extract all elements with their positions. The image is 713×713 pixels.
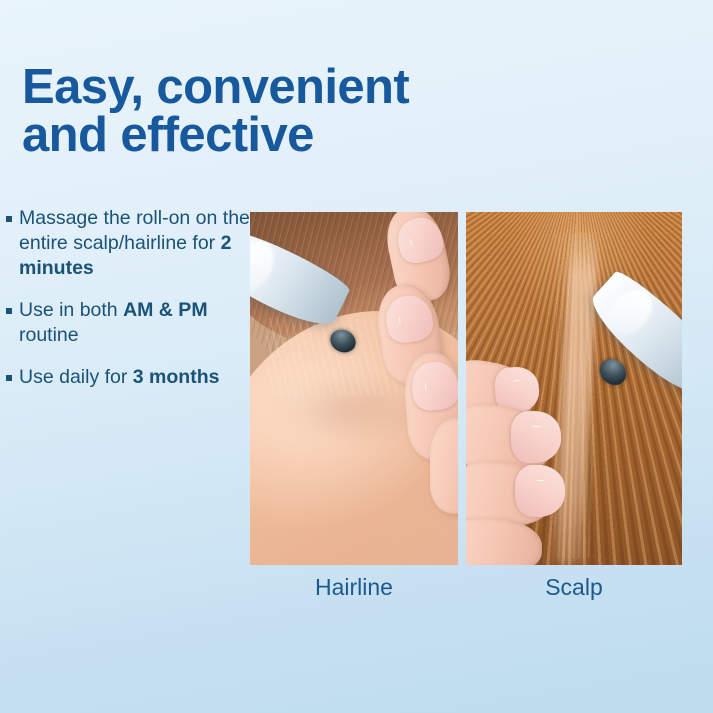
list-item-text: Use in both AM & PM routine (19, 298, 250, 348)
list-item-text: Massage the roll-on on the entire scalp/… (19, 206, 250, 281)
bullet-square-icon (6, 216, 12, 222)
bullet-square-icon (6, 375, 12, 381)
list-item-text-plain: Use in both (19, 299, 123, 321)
photo-hairline-scene (250, 212, 458, 565)
list-item-text: Use daily for 3 months (19, 365, 250, 390)
list-item-text-bold: 3 months (133, 366, 220, 388)
list-item: Use in both AM & PM routine (6, 298, 250, 348)
photo-scalp-scene (466, 212, 682, 565)
finger (430, 418, 458, 514)
list-item-text-bold: AM & PM (123, 299, 208, 321)
photo-caption-scalp: Scalp (466, 574, 682, 601)
list-item-text-plain: Use daily for (19, 366, 133, 388)
list-item-text-plain-2: routine (19, 324, 79, 346)
photo-hairline (250, 212, 458, 565)
page-title: Easy, convenient and effective (22, 63, 492, 159)
list-item-text-plain: Massage the roll-on on the entire scalp/… (19, 207, 250, 254)
promo-card: Easy, convenient and effective Massage t… (0, 0, 713, 713)
list-item: Use daily for 3 months (6, 365, 250, 390)
photo-caption-hairline: Hairline (250, 574, 458, 601)
photo-scalp (466, 212, 682, 565)
fingernail (515, 465, 565, 517)
parting-fuzz (554, 233, 593, 558)
bullet-square-icon (6, 308, 12, 314)
instructions-list: Massage the roll-on on the entire scalp/… (6, 206, 250, 407)
list-item: Massage the roll-on on the entire scalp/… (6, 206, 250, 281)
